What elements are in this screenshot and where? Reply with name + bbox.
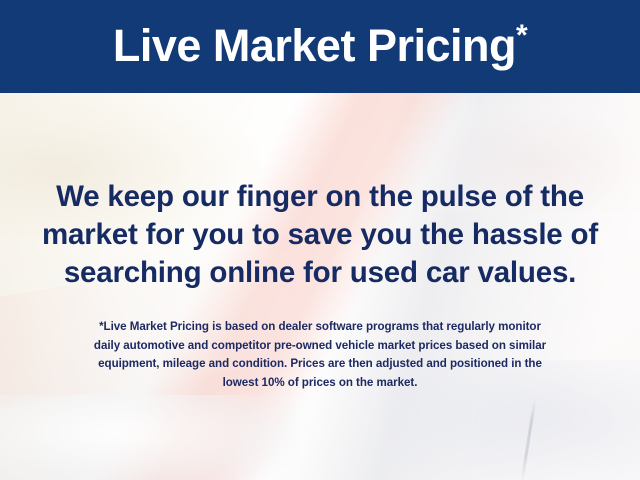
disclaimer-line-2: daily automotive and competitor pre-owne… bbox=[30, 337, 610, 356]
headline-line-2: market for you to save you the hassle of bbox=[0, 216, 640, 254]
disclaimer-line-4: lowest 10% of prices on the market. bbox=[30, 374, 610, 393]
headline-line-3: searching online for used car values. bbox=[0, 254, 640, 292]
headline: We keep our finger on the pulse of the m… bbox=[0, 178, 640, 292]
disclaimer-text: *Live Market Pricing is based on dealer … bbox=[30, 318, 610, 392]
disclaimer-line-1: *Live Market Pricing is based on dealer … bbox=[30, 318, 610, 337]
disclaimer-line-3: equipment, mileage and condition. Prices… bbox=[30, 355, 610, 374]
headline-line-1: We keep our finger on the pulse of the bbox=[0, 178, 640, 216]
page-title: Live Market Pricing* bbox=[113, 23, 527, 71]
page-title-asterisk: * bbox=[516, 19, 527, 52]
live-market-pricing-banner: Live Market Pricing* We keep our finger … bbox=[0, 0, 640, 480]
header-band: Live Market Pricing* bbox=[0, 0, 640, 93]
page-title-text: Live Market Pricing bbox=[113, 20, 516, 71]
